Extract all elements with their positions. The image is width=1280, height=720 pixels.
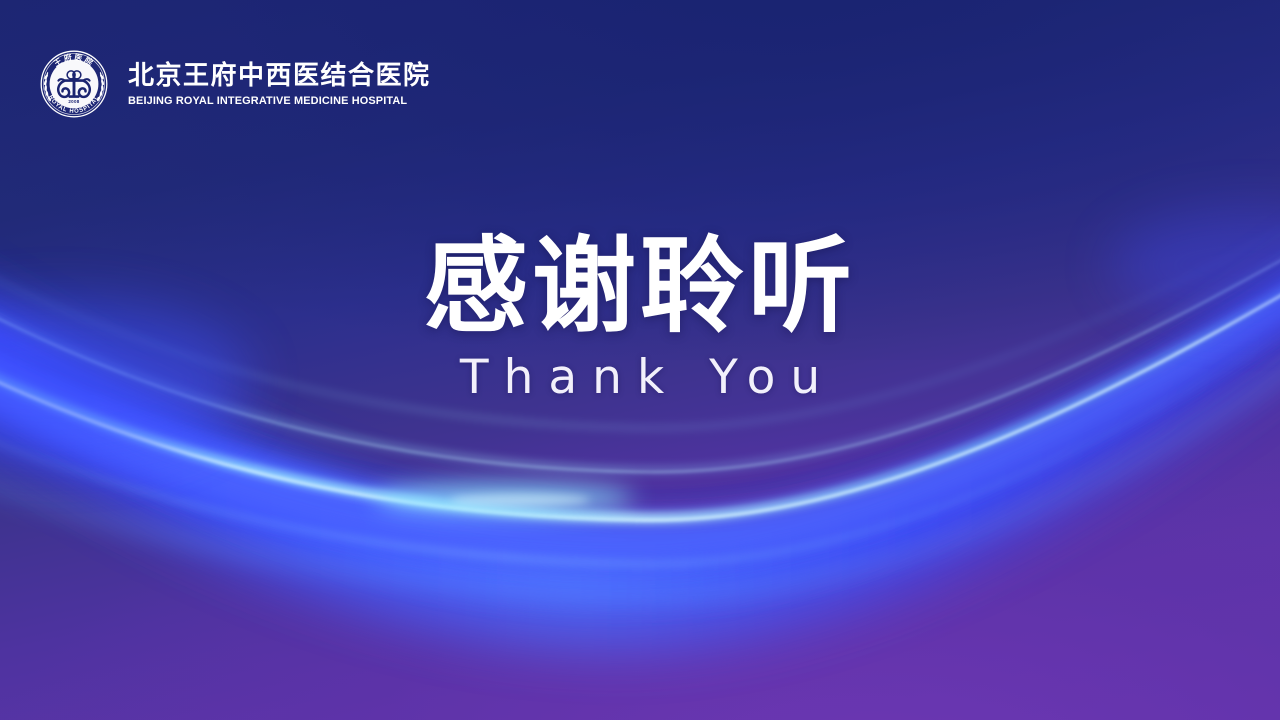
- headline-primary: 感谢聆听: [0, 228, 1280, 344]
- headline-secondary: Thank You: [0, 352, 1280, 404]
- svg-text:2008: 2008: [68, 99, 79, 104]
- headline-block: 感谢聆听 Thank You: [0, 228, 1280, 404]
- presentation-slide: 王府医院 ROYAL HOSPITAL: [0, 0, 1280, 720]
- hospital-logo: 王府医院 ROYAL HOSPITAL: [34, 44, 431, 124]
- hospital-emblem-icon: 王府医院 ROYAL HOSPITAL: [34, 44, 114, 124]
- hospital-name-block: 北京王府中西医结合医院 BEIJING ROYAL INTEGRATIVE ME…: [128, 60, 431, 108]
- hospital-name-cn: 北京王府中西医结合医院: [128, 62, 431, 91]
- hospital-name-en: BEIJING ROYAL INTEGRATIVE MEDICINE HOSPI…: [128, 94, 423, 108]
